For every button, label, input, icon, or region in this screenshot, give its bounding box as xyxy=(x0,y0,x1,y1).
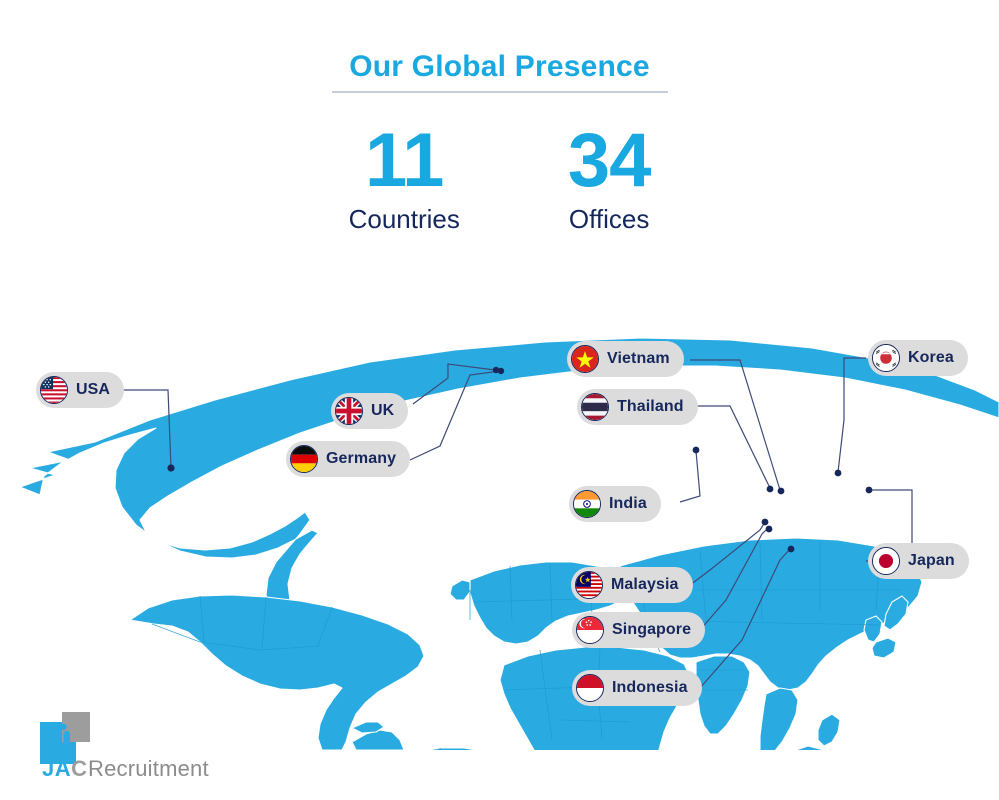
flag-germany-icon xyxy=(290,445,318,473)
pill-germany[interactable]: Germany xyxy=(286,441,410,477)
flag-usa-icon xyxy=(40,376,68,404)
pill-uk[interactable]: UK xyxy=(331,393,408,429)
stat-offices: 34 Offices xyxy=(568,124,651,236)
flag-japan-icon xyxy=(872,547,900,575)
pill-malaysia[interactable]: Malaysia xyxy=(571,567,693,603)
jac-logo-c: C xyxy=(71,756,87,781)
pill-indonesia-label: Indonesia xyxy=(612,679,688,697)
flag-indonesia-icon xyxy=(576,674,604,702)
jac-logo-a: A xyxy=(55,756,71,781)
pill-vietnam[interactable]: Vietnam xyxy=(567,341,684,377)
pill-japan[interactable]: Japan xyxy=(868,543,969,579)
stat-offices-number: 34 xyxy=(568,124,651,198)
landmass-british-isles xyxy=(450,580,470,600)
infographic-canvas: Our Global Presence 11 Countries 34 Offi… xyxy=(0,0,999,800)
world-map-svg xyxy=(0,290,999,750)
stat-offices-label: Offices xyxy=(569,202,649,236)
landmass-japan-south xyxy=(872,638,896,658)
pill-singapore-label: Singapore xyxy=(612,621,691,639)
flag-singapore-icon xyxy=(576,616,604,644)
pill-usa-label: USA xyxy=(76,381,110,399)
pill-japan-label: Japan xyxy=(908,552,955,570)
jac-recruitment-logo: JAC Recruitment xyxy=(40,712,260,782)
pill-usa[interactable]: USA xyxy=(36,372,124,408)
jac-logo-wordmark: JAC xyxy=(42,756,88,782)
pill-malaysia-label: Malaysia xyxy=(611,576,679,594)
stat-countries-label: Countries xyxy=(349,202,460,236)
landmass-borneo xyxy=(788,746,830,750)
page-title: Our Global Presence xyxy=(0,50,999,84)
pill-thailand-label: Thailand xyxy=(617,398,684,416)
pill-india[interactable]: India xyxy=(569,486,661,522)
landmass-philippines xyxy=(818,714,840,746)
pill-indonesia[interactable]: Indonesia xyxy=(572,670,702,706)
pill-korea[interactable]: Korea xyxy=(868,340,968,376)
pill-india-label: India xyxy=(609,495,647,513)
pill-uk-label: UK xyxy=(371,402,394,420)
flag-korea-icon xyxy=(872,344,900,372)
landmass-india xyxy=(696,656,750,734)
landmass-korea xyxy=(864,616,882,642)
world-map xyxy=(0,290,999,750)
landmass-south-america xyxy=(384,748,532,750)
jac-logo-recruitment-text: Recruitment xyxy=(88,756,209,782)
title-divider xyxy=(332,91,668,93)
flag-malaysia-icon xyxy=(575,571,603,599)
landmass-central-america xyxy=(352,730,404,750)
stats-row: 11 Countries 34 Offices xyxy=(0,124,999,236)
pill-thailand[interactable]: Thailand xyxy=(577,389,698,425)
flag-india-icon xyxy=(573,490,601,518)
flag-uk-icon xyxy=(335,397,363,425)
pill-germany-label: Germany xyxy=(326,450,396,468)
flag-thailand-icon xyxy=(581,393,609,421)
stat-countries: 11 Countries xyxy=(349,124,460,236)
flag-vietnam-icon xyxy=(571,345,599,373)
pill-korea-label: Korea xyxy=(908,349,954,367)
jac-logo-j: J xyxy=(42,756,55,781)
pill-vietnam-label: Vietnam xyxy=(607,350,670,368)
stat-countries-number: 11 xyxy=(365,124,443,198)
pill-singapore[interactable]: Singapore xyxy=(572,612,705,648)
landmass-indochina xyxy=(760,688,798,750)
